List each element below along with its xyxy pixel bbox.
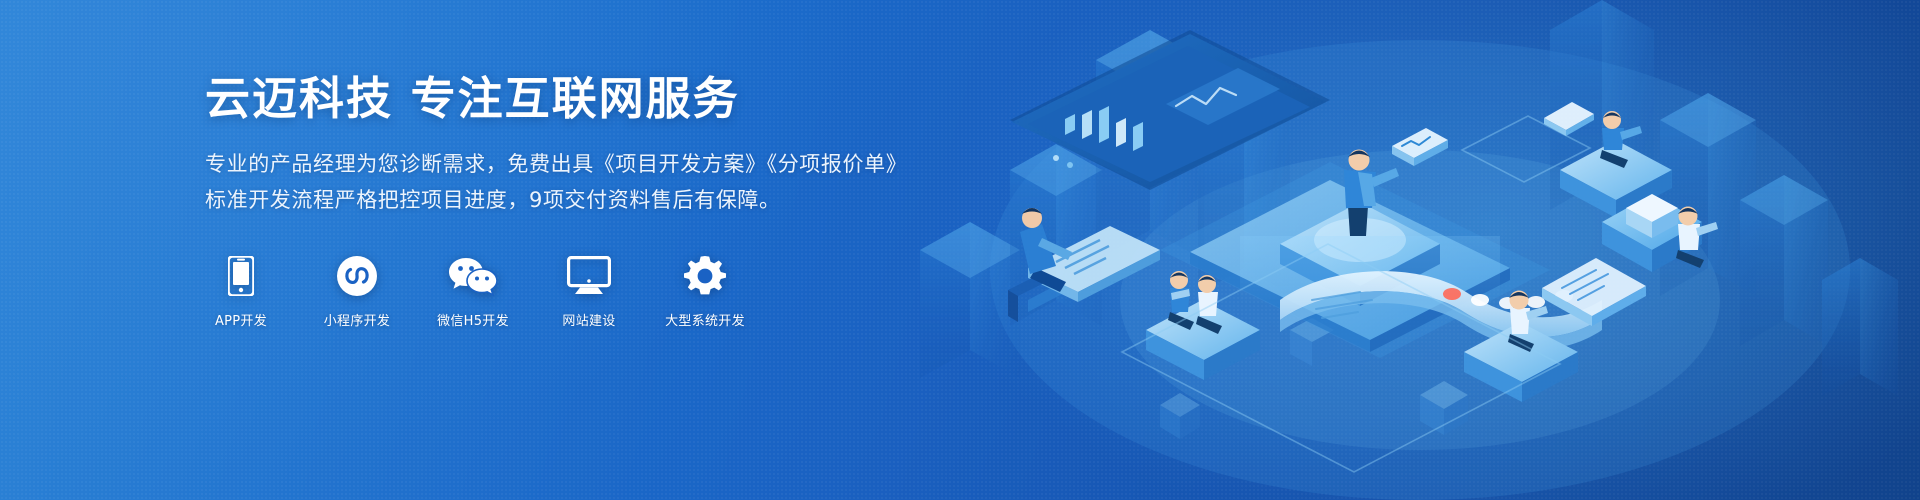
page-title: 云迈科技 专注互联网服务 <box>205 72 965 125</box>
service-label: 大型系统开发 <box>665 310 745 329</box>
subtitle-line-1: 专业的产品经理为您诊断需求，免费出具《项目开发方案》《分项报价单》 <box>205 146 965 182</box>
service-label: 网站建设 <box>562 310 615 329</box>
service-list: APP开发 小程序开发 <box>205 254 965 329</box>
monitor-icon <box>567 254 611 298</box>
service-item-mini-program[interactable]: 小程序开发 <box>321 254 393 329</box>
service-item-app[interactable]: APP开发 <box>205 254 277 329</box>
service-label: 微信H5开发 <box>437 310 509 329</box>
subtitle-line-2: 标准开发流程严格把控项目进度，9项交付资料售后有保障。 <box>205 182 965 218</box>
service-item-large-system[interactable]: 大型系统开发 <box>669 254 741 329</box>
mini-program-icon <box>336 254 378 298</box>
hero-banner: 云迈科技 专注互联网服务 专业的产品经理为您诊断需求，免费出具《项目开发方案》《… <box>0 0 1920 500</box>
gear-icon <box>684 254 726 298</box>
service-item-wechat-h5[interactable]: 微信H5开发 <box>437 254 509 329</box>
mobile-phone-icon <box>228 254 254 298</box>
banner-content: 云迈科技 专注互联网服务 专业的产品经理为您诊断需求，免费出具《项目开发方案》《… <box>205 72 965 329</box>
illustration-isometric-dashboard <box>860 0 1920 500</box>
wechat-icon <box>449 254 497 298</box>
service-label: 小程序开发 <box>324 310 391 329</box>
service-label: APP开发 <box>215 310 267 329</box>
service-item-website[interactable]: 网站建设 <box>553 254 625 329</box>
